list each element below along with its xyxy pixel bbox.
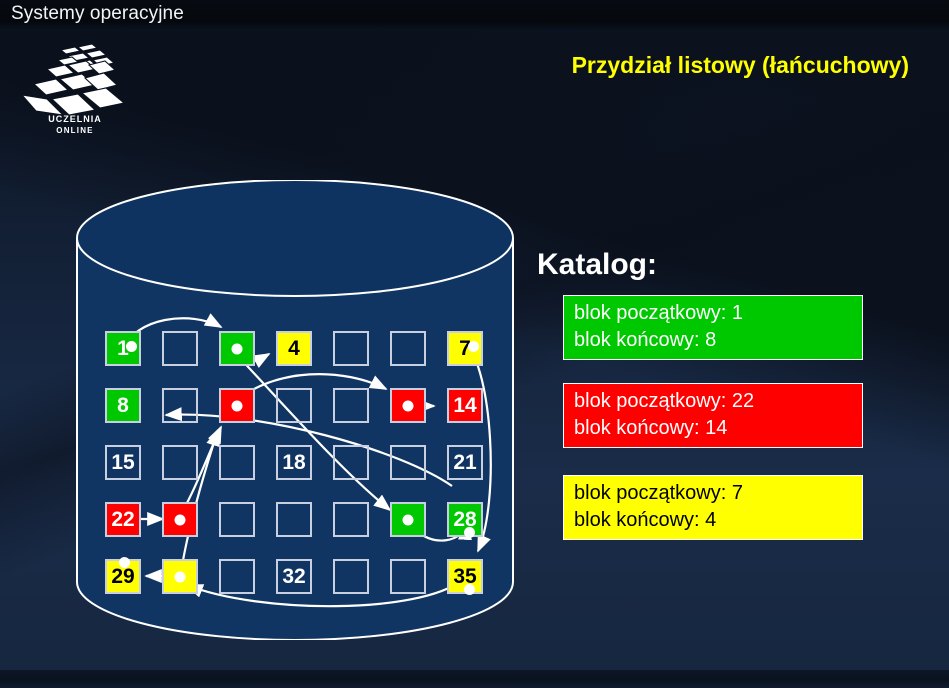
disk-block-2-2[interactable] — [219, 445, 255, 480]
pointer-dot — [119, 557, 130, 568]
start-block-line: blok początkowy: 7 — [574, 480, 854, 507]
disk-block-3-3[interactable] — [276, 502, 312, 537]
disk-block-1-2[interactable] — [162, 445, 198, 480]
disk-block-4-1[interactable] — [333, 388, 369, 423]
katalog-entry-yellow: blok początkowy: 7blok końcowy: 4 — [563, 475, 863, 540]
pointer-dot — [464, 527, 475, 538]
pointer-dot — [403, 400, 414, 411]
uczelnia-online-logo: UCZELNIA ONLINE — [16, 38, 134, 146]
disk-block-4-0[interactable] — [333, 331, 369, 366]
slide-title: Przydział listowy (łańcuchowy) — [572, 52, 909, 79]
pointer-dot — [232, 343, 243, 354]
pointer-dot — [175, 514, 186, 525]
disk-block-4-2[interactable] — [333, 445, 369, 480]
disk-block-5-1[interactable] — [390, 388, 426, 423]
disk-block-15[interactable]: 15 — [105, 445, 141, 480]
pointer-dot — [403, 514, 414, 525]
start-block-line: blok początkowy: 22 — [574, 388, 854, 415]
disk-block-14[interactable]: 14 — [447, 388, 483, 423]
katalog-entry-green: blok początkowy: 1blok końcowy: 8 — [563, 295, 863, 360]
logo-name: UCZELNIA — [48, 114, 102, 124]
disk-block-7[interactable]: 7 — [447, 331, 483, 366]
disk-block-2-0[interactable] — [219, 331, 255, 366]
top-bar: Systemy operacyjne — [0, 0, 949, 31]
disk-block-2-1[interactable] — [219, 388, 255, 423]
disk-block-1-1[interactable] — [162, 388, 198, 423]
disk-block-1-0[interactable] — [162, 331, 198, 366]
disk-block-18[interactable]: 18 — [276, 445, 312, 480]
disk-block-5-0[interactable] — [390, 331, 426, 366]
disk-block-4[interactable]: 4 — [276, 331, 312, 366]
pointer-dot — [232, 400, 243, 411]
disk-block-28[interactable]: 28 — [447, 502, 483, 537]
course-title: Systemy operacyjne — [11, 3, 184, 25]
start-block-line: blok początkowy: 1 — [574, 300, 854, 327]
disk-block-1-3[interactable] — [162, 502, 198, 537]
end-block-line: blok końcowy: 4 — [574, 507, 854, 534]
end-block-line: blok końcowy: 8 — [574, 327, 854, 354]
disk-block-5-3[interactable] — [390, 502, 426, 537]
disk-block-4-4[interactable] — [333, 559, 369, 594]
pointer-dot — [464, 584, 475, 595]
disk-block-3-1[interactable] — [276, 388, 312, 423]
disk-block-8[interactable]: 8 — [105, 388, 141, 423]
disk-block-1[interactable]: 1 — [105, 331, 141, 366]
disk-block-2-4[interactable] — [219, 559, 255, 594]
pointer-dot — [126, 341, 137, 352]
pointer-dot — [175, 571, 186, 582]
disk-block-4-3[interactable] — [333, 502, 369, 537]
disk-block-22[interactable]: 22 — [105, 502, 141, 537]
logo-sub: ONLINE — [56, 126, 93, 135]
disk-block-32[interactable]: 32 — [276, 559, 312, 594]
logo-wordmark: UCZELNIA ONLINE — [16, 114, 134, 136]
disk-block-21[interactable]: 21 — [447, 445, 483, 480]
katalog-heading: Katalog: — [537, 248, 657, 282]
disk-block-5-4[interactable] — [390, 559, 426, 594]
pointer-dot — [468, 341, 479, 352]
disk-block-5-2[interactable] — [390, 445, 426, 480]
end-block-line: blok końcowy: 14 — [574, 415, 854, 442]
disk-block-35[interactable]: 35 — [447, 559, 483, 594]
disk-block-1-4[interactable] — [162, 559, 198, 594]
background-bottom-band — [0, 670, 949, 688]
disk-block-2-3[interactable] — [219, 502, 255, 537]
katalog-entry-red: blok początkowy: 22blok końcowy: 14 — [563, 383, 863, 448]
disk-block-29[interactable]: 29 — [105, 559, 141, 594]
